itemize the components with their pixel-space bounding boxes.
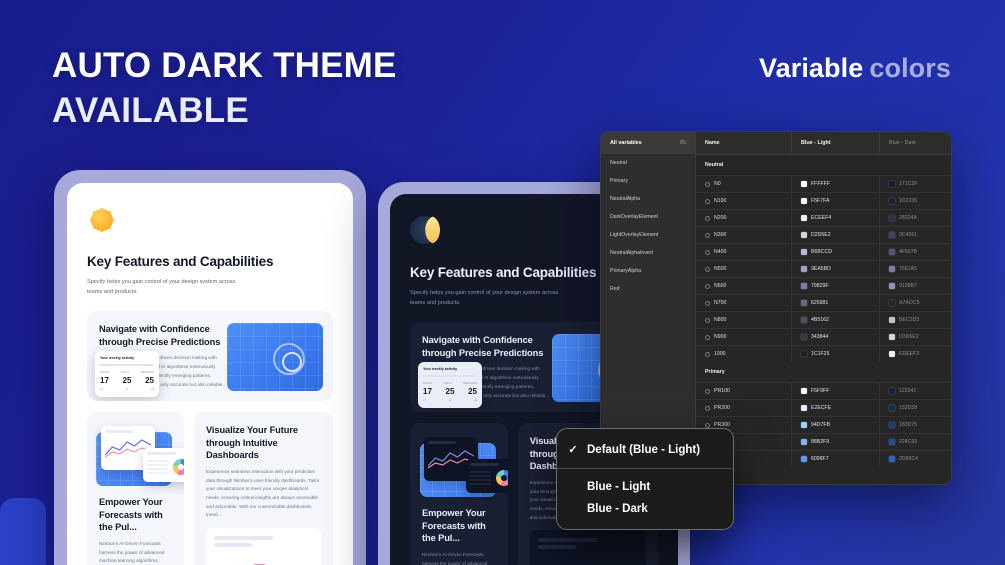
variable-type-icon	[705, 318, 710, 323]
variable-type-icon	[705, 335, 710, 340]
table-row[interactable]: N200ECEEF428324A	[696, 209, 951, 226]
row-name-cell[interactable]: N800	[696, 312, 792, 328]
row-light-cell[interactable]: D2D5E2	[792, 227, 880, 243]
dark-hex: 152D58	[899, 405, 917, 411]
row-name-cell[interactable]: PR200	[696, 400, 792, 416]
all-variables-label: All variables	[610, 140, 642, 146]
row-dark-cell[interactable]: 152D58	[880, 400, 951, 416]
widget-title: Your weekly activity	[423, 367, 477, 371]
row-dark-cell[interactable]: 9198B7	[880, 278, 951, 294]
dropdown-item[interactable]: ✓Default (Blue - Light)	[557, 438, 733, 461]
row-light-cell[interactable]: F5F7FA	[792, 193, 880, 209]
widget-label-calls: CALLS	[444, 382, 452, 385]
color-swatch	[889, 266, 895, 272]
widget-deltas: +7 +7 +3	[100, 388, 154, 391]
all-variables-count: 85	[680, 140, 686, 146]
variable-name: N900	[714, 334, 726, 340]
row-dark-cell[interactable]: 2D66C4	[880, 451, 951, 467]
variable-name: N0	[714, 181, 721, 187]
table-section-header: Primary	[696, 362, 951, 382]
dark-hex: D3D6E2	[899, 334, 919, 340]
sun-icon	[91, 209, 113, 231]
row-dark-cell[interactable]: 122341	[880, 383, 951, 399]
widget-divider	[423, 375, 477, 377]
dark-hex: 7681A5	[899, 266, 917, 272]
row-dark-cell[interactable]: EDEEF3	[880, 346, 951, 362]
color-swatch	[889, 405, 895, 411]
light-hex: D2D5E2	[811, 232, 831, 238]
dark-hex: EDEEF3	[899, 351, 919, 357]
dark-hex: A7AOC5	[899, 300, 919, 306]
variable-name: PR200	[714, 405, 730, 411]
forecasts-illustration	[99, 424, 172, 488]
color-swatch	[801, 317, 807, 323]
color-swatch	[889, 198, 895, 204]
sidebar-group-neutralalphainvert[interactable]: NeutralAlphaInvert	[601, 244, 695, 262]
color-swatch	[801, 249, 807, 255]
row-name-cell[interactable]: N400	[696, 244, 792, 260]
page-title: AUTO DARK THEME AVAILABLE	[52, 44, 397, 134]
color-swatch	[801, 405, 807, 411]
light-hex: F5F9FF	[811, 388, 829, 394]
widget-label-goals: GOALS	[100, 371, 109, 374]
card-body: Nimbus's AI-Driven Forecasts harness the…	[422, 551, 496, 565]
table-row[interactable]: N0FFFFFF171C2F	[696, 175, 951, 192]
widget-value-goals: 17	[100, 376, 109, 385]
light-card-forecasts: Empower Your Forecasts with the Pul... N…	[87, 412, 184, 565]
table-row[interactable]: PR5006099F72D66C4	[696, 450, 951, 467]
table-row[interactable]: N700626981A7AOC5	[696, 294, 951, 311]
chart-subtitle-placeholder	[538, 545, 576, 549]
light-theme-screen: Key Features and Capabilities Specify he…	[67, 183, 353, 565]
moon-icon	[410, 216, 438, 244]
row-name-cell[interactable]: 1000	[696, 346, 792, 362]
dashboard-chart-panel	[530, 530, 646, 565]
dropdown-separator	[557, 468, 733, 469]
variable-type-icon	[705, 199, 710, 204]
color-swatch	[801, 198, 807, 204]
dark-hex: 2D66C4	[899, 456, 918, 462]
sidebar-group-primary[interactable]: Primary	[601, 172, 695, 190]
sidebar-item-all-variables[interactable]: All variables 85	[601, 132, 695, 154]
weekly-activity-widget: Your weekly activity GOALS CALLS MEETING…	[95, 351, 159, 397]
row-name-cell[interactable]: N300	[696, 227, 792, 243]
widget-value-meetings: 25	[468, 387, 477, 396]
color-swatch	[889, 317, 895, 323]
table-row[interactable]: PR100F5F9FF122341	[696, 382, 951, 399]
table-row[interactable]: PR200E2ECFE152D58	[696, 399, 951, 416]
light-card-predictions: Navigate with Confidence through Precise…	[87, 311, 333, 401]
color-swatch	[889, 334, 895, 340]
row-name-cell[interactable]: N600	[696, 278, 792, 294]
chart-title-placeholder	[538, 538, 598, 542]
row-light-cell[interactable]: FFFFFF	[792, 176, 880, 192]
dark-card-forecasts: Empower Your Forecasts with the Pul... N…	[410, 423, 508, 565]
dropdown-item[interactable]: Blue - Light	[557, 476, 733, 498]
forecasts-illustration	[422, 435, 496, 499]
light-hex: 94D7FB	[811, 422, 830, 428]
row-light-cell[interactable]: B6BCCD	[792, 244, 880, 260]
chart-title-placeholder	[214, 536, 273, 540]
widget-labels: GOALS CALLS MEETINGS	[100, 371, 154, 374]
bar-chart	[214, 555, 313, 565]
light-card-dashboards: Visualize Your Future through Intuitive …	[194, 412, 333, 565]
dark-hex: 4F567B	[899, 249, 917, 255]
dark-hex: 9198B7	[899, 283, 917, 289]
table-section-header: Neutral	[696, 155, 951, 175]
light-hex: ECEEF4	[811, 215, 831, 221]
color-swatch	[801, 439, 807, 445]
variable-name: N500	[714, 266, 726, 272]
card-title: Visualize Your Future through Intuitive …	[206, 424, 321, 462]
variable-type-icon	[705, 389, 710, 394]
dark-hex: 28324A	[899, 215, 917, 221]
color-swatch	[889, 422, 895, 428]
row-name-cell[interactable]: N200	[696, 210, 792, 226]
row-name-cell[interactable]: N500	[696, 261, 792, 277]
color-swatch	[889, 388, 895, 394]
widget-values: 17 25 25	[100, 376, 154, 385]
tagline-word-1: Variable	[759, 53, 863, 83]
variable-type-icon	[705, 182, 710, 187]
widget-delta-meetings: +3	[151, 388, 154, 391]
sidebar-group-neutral[interactable]: Neutral	[601, 154, 695, 172]
row-name-cell[interactable]: PR100	[696, 383, 792, 399]
color-swatch	[801, 334, 807, 340]
color-swatch	[801, 232, 807, 238]
widget-delta-calls: +7	[449, 399, 452, 402]
chart-subtitle-placeholder	[214, 543, 252, 547]
variable-name: N200	[714, 215, 726, 221]
variable-type-icon	[705, 423, 710, 428]
light-theme-mockup-frame: Key Features and Capabilities Specify he…	[54, 170, 366, 565]
sidebar-group-neutralalpha[interactable]: NeutralAlpha	[601, 190, 695, 208]
color-swatch	[801, 422, 807, 428]
row-dark-cell[interactable]: 183D75	[880, 417, 951, 433]
row-light-cell[interactable]: 79829F	[792, 278, 880, 294]
card-title: Empower Your Forecasts with the Pul...	[422, 507, 496, 545]
widget-divider	[100, 364, 154, 366]
color-swatch	[889, 456, 895, 462]
mini-donut-card	[143, 448, 184, 482]
check-icon: ✓	[567, 443, 579, 456]
sidebar-group-darkoverlayelement[interactable]: DarkOverlayElement	[601, 208, 695, 226]
variables-table: Name Blue - Light Blue - Dark NeutralN0F…	[696, 132, 951, 484]
row-light-cell[interactable]: 1C1F25	[792, 346, 880, 362]
variables-table-body: NeutralN0FFFFFF171C2FN100F5F7FA1D2235N20…	[696, 155, 951, 467]
widget-value-meetings: 25	[145, 376, 154, 385]
predictions-illustration	[227, 323, 323, 391]
widget-delta-goals: +7	[423, 399, 426, 402]
light-hex: 626981	[811, 300, 828, 306]
color-swatch	[889, 249, 895, 255]
row-dark-cell[interactable]: 224C93	[880, 434, 951, 450]
light-hex: 88B2F9	[811, 439, 829, 445]
color-swatch	[801, 456, 807, 462]
widget-label-goals: GOALS	[423, 382, 432, 385]
variable-type-icon	[705, 216, 710, 221]
column-header-name[interactable]: Name	[696, 132, 792, 154]
widget-value-calls: 25	[123, 376, 132, 385]
variable-name: N600	[714, 283, 726, 289]
light-hex: 4B5162	[811, 317, 829, 323]
row-light-cell[interactable]: 343844	[792, 329, 880, 345]
variable-type-icon	[705, 406, 710, 411]
row-dark-cell[interactable]: 4F567B	[880, 244, 951, 260]
dark-hex: 171C2F	[899, 181, 917, 187]
variable-type-icon	[705, 284, 710, 289]
mini-donut-card	[466, 459, 508, 493]
widget-value-goals: 17	[423, 387, 432, 396]
column-header-blue-dark[interactable]: Blue - Dark	[880, 132, 951, 154]
color-swatch	[889, 232, 895, 238]
sidebar-group-primaryalpha[interactable]: PrimaryAlpha	[601, 262, 695, 280]
table-row[interactable]: N900343844D3D6E2	[696, 328, 951, 345]
tagline-word-2: colors	[869, 53, 951, 83]
variable-name: N300	[714, 232, 726, 238]
column-header-blue-light[interactable]: Blue - Light	[792, 132, 880, 154]
row-name-cell[interactable]: N0	[696, 176, 792, 192]
color-swatch	[801, 283, 807, 289]
row-name-cell[interactable]: N700	[696, 295, 792, 311]
dark-hex: 183D75	[899, 422, 917, 428]
row-name-cell[interactable]: N900	[696, 329, 792, 345]
widget-title: Your weekly activity	[100, 356, 154, 360]
dark-hex: BEC2D3	[899, 317, 919, 323]
sidebar-group-red[interactable]: Red	[601, 280, 695, 298]
card-title: Navigate with Confidence through Precise…	[422, 334, 552, 359]
variable-name: 1000	[714, 351, 726, 357]
row-light-cell[interactable]: 4B5162	[792, 312, 880, 328]
tagline: Variablecolors	[759, 53, 951, 84]
row-name-cell[interactable]: N100	[696, 193, 792, 209]
table-row[interactable]: 10001C1F25EDEEF3	[696, 345, 951, 362]
light-hex: 9EA5BD	[811, 266, 831, 272]
row-light-cell[interactable]: 9EA5BD	[792, 261, 880, 277]
row-light-cell[interactable]: 88B2F9	[792, 434, 880, 450]
row-dark-cell[interactable]: 171C2F	[880, 176, 951, 192]
color-swatch	[889, 283, 895, 289]
dark-hex: 224C93	[899, 439, 917, 445]
row-dark-cell[interactable]: BEC2D3	[880, 312, 951, 328]
widget-label-meetings: MEETINGS	[463, 382, 477, 385]
color-swatch	[801, 300, 807, 306]
widget-label-meetings: MEETINGS	[140, 371, 154, 374]
weekly-activity-widget: Your weekly activity GOALS CALLS MEETING…	[418, 362, 482, 408]
dropdown-item-label: Blue - Light	[587, 481, 650, 493]
row-dark-cell[interactable]: 3C4561	[880, 227, 951, 243]
dropdown-list: ✓Default (Blue - Light)Blue - LightBlue …	[557, 438, 733, 520]
headline-line-2: AVAILABLE	[52, 89, 397, 134]
card-body: Nimbus's AI-Driven Forecasts harness the…	[99, 540, 172, 565]
widget-delta-goals: +7	[100, 388, 103, 391]
dropdown-item-label: Default (Blue - Light)	[587, 444, 700, 456]
light-hex: E2ECFE	[811, 405, 831, 411]
row-light-cell[interactable]: 94D7FB	[792, 417, 880, 433]
light-screen-subtitle: Specify helps you gain control of your d…	[87, 278, 237, 298]
widget-labels: GOALS CALLS MEETINGS	[423, 382, 477, 385]
variable-name: N100	[714, 198, 726, 204]
widget-value-calls: 25	[446, 387, 455, 396]
donut-chart	[173, 459, 184, 475]
color-swatch	[889, 300, 895, 306]
card-body: Experience seamless interaction with you…	[206, 468, 321, 520]
row-light-cell[interactable]: 626981	[792, 295, 880, 311]
variable-name: N400	[714, 249, 726, 255]
variables-table-header: Name Blue - Light Blue - Dark	[696, 132, 951, 155]
headline-line-1: AUTO DARK THEME	[52, 44, 397, 89]
card-title: Empower Your Forecasts with the Pul...	[99, 496, 172, 534]
color-swatch	[801, 215, 807, 221]
color-swatch	[889, 215, 895, 221]
dark-hex: 3C4561	[899, 232, 917, 238]
accent-card	[0, 498, 46, 565]
variable-name: N700	[714, 300, 726, 306]
dropdown-item-label: Blue - Dark	[587, 503, 648, 515]
table-row[interactable]: N400B6BCCD4F567B	[696, 243, 951, 260]
row-dark-cell[interactable]: D3D6E2	[880, 329, 951, 345]
row-dark-cell[interactable]: 7681A5	[880, 261, 951, 277]
table-row[interactable]: N8004B5162BEC2D3	[696, 311, 951, 328]
variable-type-icon	[705, 301, 710, 306]
bar-chart	[538, 557, 638, 565]
variable-type-icon	[705, 233, 710, 238]
light-hex: B6BCCD	[811, 249, 832, 255]
dark-hex: 122341	[899, 388, 916, 394]
light-hex: 1C1F25	[811, 351, 829, 357]
theme-mode-dropdown[interactable]: ✓Default (Blue - Light)Blue - LightBlue …	[556, 428, 734, 530]
row-dark-cell[interactable]: 1D2235	[880, 193, 951, 209]
widget-values: 17 25 25	[423, 387, 477, 396]
target-ring-icon	[273, 343, 305, 375]
dropdown-item[interactable]: Blue - Dark	[557, 498, 733, 520]
widget-delta-calls: +7	[126, 388, 129, 391]
row-light-cell[interactable]: F5F9FF	[792, 383, 880, 399]
color-swatch	[801, 181, 807, 187]
variable-name: N800	[714, 317, 726, 323]
light-hex: 6099F7	[811, 456, 829, 462]
variable-type-icon	[705, 250, 710, 255]
light-hex: F5F7FA	[811, 198, 829, 204]
light-hex: FFFFFF	[811, 181, 830, 187]
light-screen-title: Key Features and Capabilities	[87, 253, 333, 271]
table-row[interactable]: PR40088B2F9224C93	[696, 433, 951, 450]
color-swatch	[889, 351, 895, 357]
dark-hex: 1D2235	[899, 198, 917, 204]
light-hex: 343844	[811, 334, 828, 340]
widget-label-calls: CALLS	[121, 371, 129, 374]
widget-deltas: +7 +7 +3	[423, 399, 477, 402]
variable-type-icon	[705, 267, 710, 272]
poster-stage: AUTO DARK THEME AVAILABLE Variablecolors…	[0, 0, 1005, 565]
donut-chart	[496, 470, 508, 486]
dark-screen-subtitle: Specify helps you gain control of your d…	[410, 289, 560, 309]
color-swatch	[889, 439, 895, 445]
row-dark-cell[interactable]: A7AOC5	[880, 295, 951, 311]
row-dark-cell[interactable]: 28324A	[880, 210, 951, 226]
color-swatch	[801, 351, 807, 357]
table-row[interactable]: N60079829F9198B7	[696, 277, 951, 294]
light-card-row: Empower Your Forecasts with the Pul... N…	[87, 412, 333, 565]
color-swatch	[889, 181, 895, 187]
table-row[interactable]: N300D2D5E23C4561	[696, 226, 951, 243]
sidebar-group-lightoverlayelement[interactable]: LightOverlayElement	[601, 226, 695, 244]
row-light-cell[interactable]: 6099F7	[792, 451, 880, 467]
color-swatch	[801, 388, 807, 394]
sidebar-group-list: NeutralPrimaryNeutralAlphaDarkOverlayEle…	[601, 154, 695, 298]
dashboard-chart-panel	[206, 528, 321, 565]
card-title: Navigate with Confidence through Precise…	[99, 323, 228, 348]
row-light-cell[interactable]: E2ECFE	[792, 400, 880, 416]
table-row[interactable]: PR30094D7FB183D75	[696, 416, 951, 433]
color-swatch	[801, 266, 807, 272]
light-hex: 79829F	[811, 283, 829, 289]
row-light-cell[interactable]: ECEEF4	[792, 210, 880, 226]
variable-name: PR100	[714, 388, 730, 394]
table-row[interactable]: N100F5F7FA1D2235	[696, 192, 951, 209]
widget-delta-meetings: +3	[474, 399, 477, 402]
table-row[interactable]: N5009EA5BD7681A5	[696, 260, 951, 277]
variable-type-icon	[705, 352, 710, 357]
